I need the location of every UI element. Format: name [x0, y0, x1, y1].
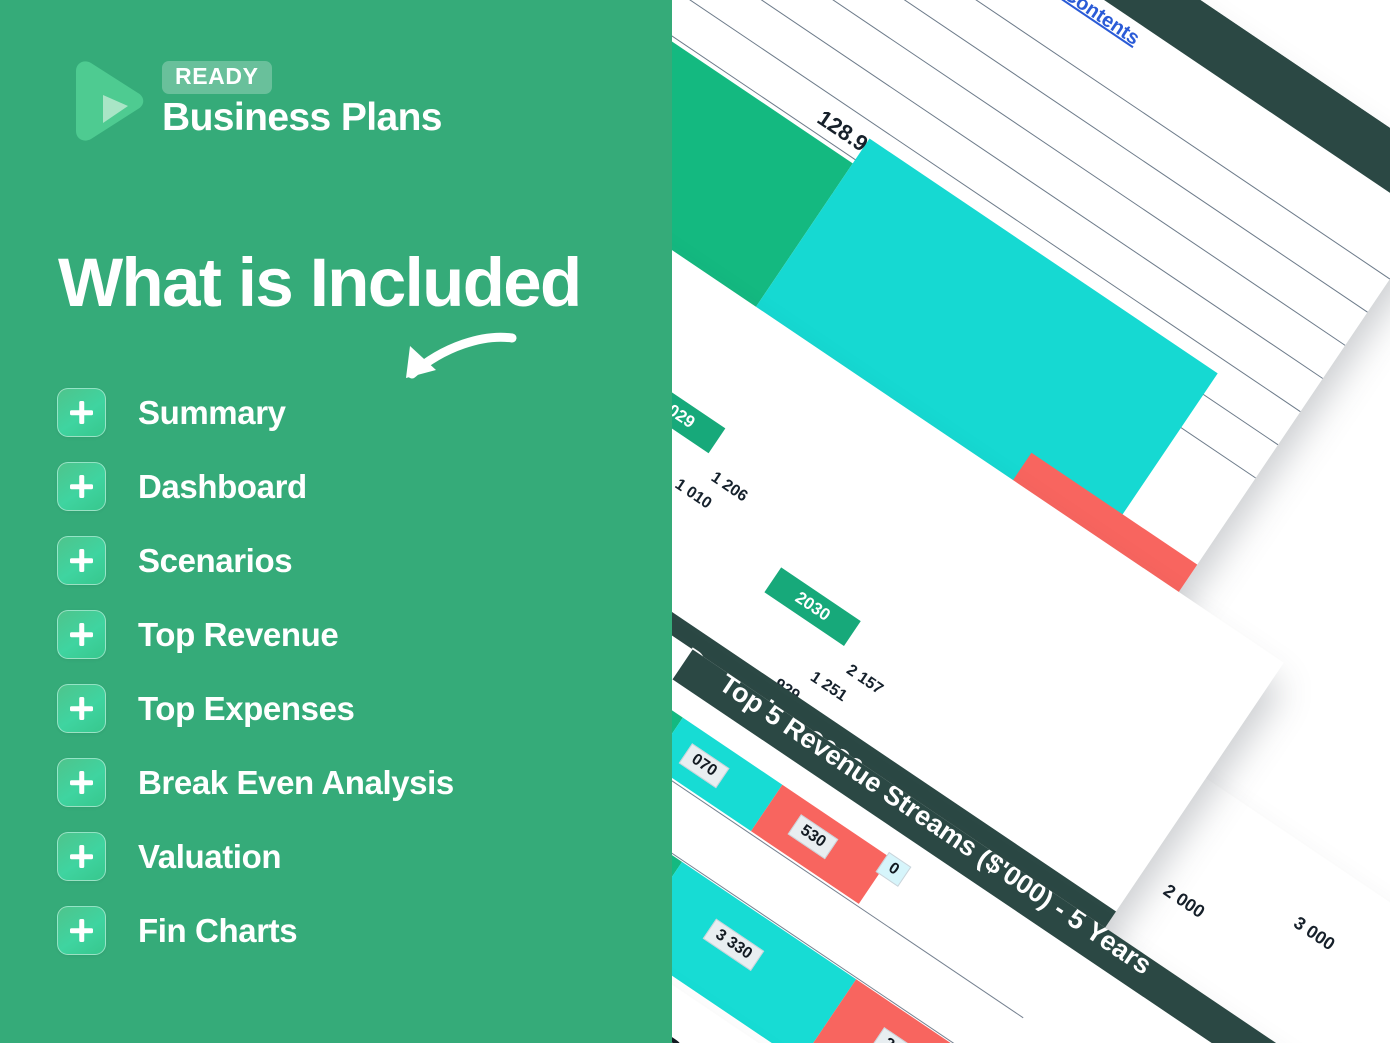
list-item[interactable]: Summary	[57, 388, 657, 437]
list-item-label: Scenarios	[138, 542, 292, 580]
left-green-panel: READY Business Plans What is Included Su…	[0, 0, 672, 1043]
promo-graphic: 1 000 2 000 3 000 4 000 Revenue 2026 202…	[0, 0, 1390, 1043]
list-item-label: Top Expenses	[138, 690, 354, 728]
list-item[interactable]: Dashboard	[57, 462, 657, 511]
ready-badge: READY	[162, 61, 272, 94]
plus-icon[interactable]	[57, 610, 106, 659]
cat-value: 1 206	[707, 469, 750, 506]
play-triangle-icon	[62, 57, 146, 141]
list-item-label: Top Revenue	[138, 616, 338, 654]
plus-icon[interactable]	[57, 906, 106, 955]
page-title: What is Included	[58, 243, 581, 322]
line-axis-value: 3 000	[1290, 912, 1339, 955]
plus-icon[interactable]	[57, 388, 106, 437]
list-item[interactable]: Top Expenses	[57, 684, 657, 733]
curved-arrow-down-left-icon	[388, 326, 518, 396]
list-item-label: Valuation	[138, 838, 281, 876]
plus-icon[interactable]	[57, 536, 106, 585]
list-item-label: Fin Charts	[138, 912, 297, 950]
plus-icon[interactable]	[57, 832, 106, 881]
plus-icon[interactable]	[57, 758, 106, 807]
list-item[interactable]: Scenarios	[57, 536, 657, 585]
list-item-label: Break Even Analysis	[138, 764, 454, 802]
list-item-label: Dashboard	[138, 468, 307, 506]
included-list: Summary Dashboard Scenarios Top Revenue …	[57, 388, 657, 980]
brand-name: Business Plans	[162, 96, 442, 140]
cat-year-header: 2030	[764, 567, 860, 646]
list-item[interactable]: Top Revenue	[57, 610, 657, 659]
list-item[interactable]: Valuation	[57, 832, 657, 881]
plus-icon[interactable]	[57, 684, 106, 733]
line-axis-value: 2 000	[1159, 880, 1208, 923]
brand-text: READY Business Plans	[162, 57, 442, 140]
cat-value: 2 157	[843, 662, 886, 699]
list-item-label: Summary	[138, 394, 286, 432]
list-item[interactable]: Fin Charts	[57, 906, 657, 955]
list-item[interactable]: Break Even Analysis	[57, 758, 657, 807]
plus-icon[interactable]	[57, 462, 106, 511]
brand-lockup[interactable]: READY Business Plans	[62, 57, 442, 141]
